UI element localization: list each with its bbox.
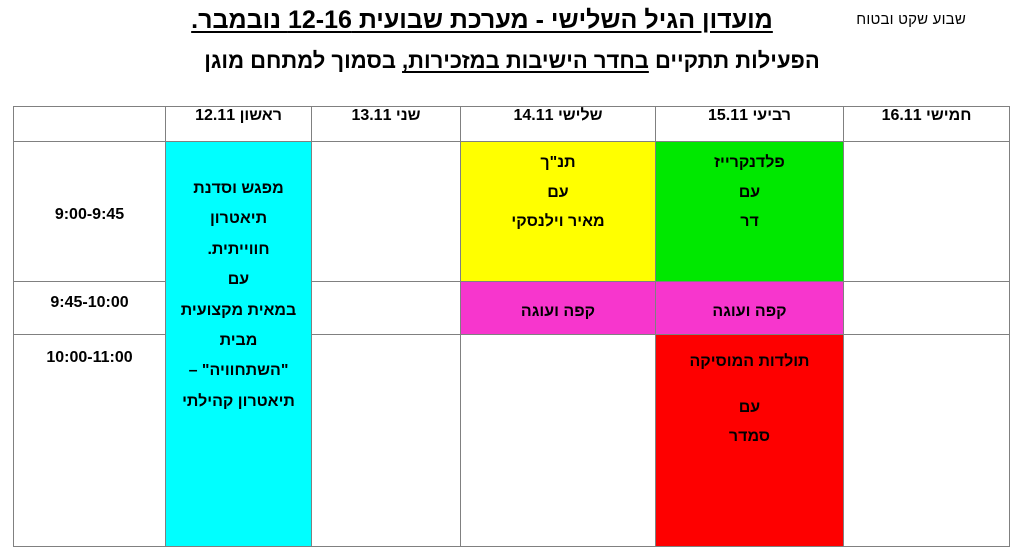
page-header: שבוע שקט ובטוח מועדון הגיל השלישי - מערכ… [0,0,1024,100]
cell-monday-slot2 [312,282,461,335]
activity-title-line3: חווייתית. [170,235,307,265]
cell-tuesday-slot3 [461,335,656,547]
activity-instructor: דר [660,207,839,237]
break-block: קפה ועוגה [656,282,843,333]
activity-with: עם [170,265,307,295]
cell-wednesday-feldenkrais: פלדנקרייז עם דר [656,142,844,282]
cell-tuesday-tanach: תנ"ך עם מאיר וילנסקי [461,142,656,282]
cell-thursday-slot2 [844,282,1010,335]
schedule-page: שבוע שקט ובטוח מועדון הגיל השלישי - מערכ… [0,0,1024,553]
column-header-monday: שני 13.11 [312,107,461,142]
cell-sunday-theater-workshop: מפגש וסדנת תיאטרון חווייתית. עם במאית מק… [166,142,312,547]
activity-org-name: "השתחוויה" – [170,356,307,386]
activity-instructor: סמדר [660,422,839,452]
column-header-wednesday: רביעי 15.11 [656,107,844,142]
activity-title-line1: מפגש וסדנת [170,148,307,204]
activity-title: תנ"ך [465,148,651,178]
cell-monday-slot1 [312,142,461,282]
cell-thursday-slot3 [844,335,1010,547]
table-row: פלדנקרייז עם דר תנ"ך עם מאיר וילנסקי [14,142,1010,282]
column-header-tuesday: שלישי 14.11 [461,107,656,142]
spacer [660,377,839,393]
column-header-thursday: חמישי 16.11 [844,107,1010,142]
activity-block: מפגש וסדנת תיאטרון חווייתית. עם במאית מק… [166,142,311,423]
subtitle-part-1: הפעילות תתקיים [649,48,820,73]
activity-with: עם [465,178,651,208]
cell-tuesday-coffee-break: קפה ועוגה [461,282,656,335]
activity-instructor: במאית מקצועית [170,296,307,326]
page-title: מועדון הגיל השלישי - מערכת שבועית 12-16 … [0,6,1024,35]
cell-time-slot2: 9:45-10:00 [14,282,166,335]
column-header-sunday: ראשון 12.11 [166,107,312,142]
subtitle-part-2: בסמוך למתחם מוגן [204,48,402,73]
time-label: 9:45-10:00 [14,282,165,312]
break-label: קפה ועוגה [465,297,651,327]
activity-block: פלדנקרייז עם דר [656,142,843,243]
table-row: תולדות המוסיקה עם סמדר 10:00-11:00 [14,335,1010,547]
activity-with: עם [660,393,839,423]
cell-monday-slot3 [312,335,461,547]
weekly-schedule-table: חמישי 16.11 רביעי 15.11 שלישי 14.11 שני … [13,106,1010,547]
cell-wednesday-music-history: תולדות המוסיקה עם סמדר [656,335,844,547]
table-row: חמישי 16.11 רביעי 15.11 שלישי 14.11 שני … [14,107,1010,142]
activity-org-type: תיאטרון קהילתי [170,387,307,417]
activity-title: פלדנקרייז [660,148,839,178]
activity-block: תנ"ך עם מאיר וילנסקי [461,142,655,243]
break-label: קפה ועוגה [660,297,839,327]
activity-title: תולדות המוסיקה [660,347,839,377]
time-label: 10:00-11:00 [14,335,165,367]
time-label: 9:00-9:45 [14,142,165,224]
subtitle-underlined-location: בחדר הישיבות במזכירות, [402,48,649,73]
break-block: קפה ועוגה [461,282,655,333]
activity-block: תולדות המוסיקה עם סמדר [656,335,843,458]
cell-time-slot3: 10:00-11:00 [14,335,166,547]
cell-wednesday-coffee-break: קפה ועוגה [656,282,844,335]
activity-org-from: מבית [170,326,307,356]
cell-thursday-slot1 [844,142,1010,282]
cell-time-slot1: 9:00-9:45 [14,142,166,282]
activity-title-line2: תיאטרון [170,204,307,234]
activity-with: עם [660,178,839,208]
page-subtitle: הפעילות תתקיים בחדר הישיבות במזכירות, בס… [0,48,1024,74]
table-header-row: חמישי 16.11 רביעי 15.11 שלישי 14.11 שני … [14,107,1010,142]
table-row: קפה ועוגה קפה ועוגה 9:45-10:00 [14,282,1010,335]
activity-instructor: מאיר וילנסקי [465,207,651,237]
table-body: פלדנקרייז עם דר תנ"ך עם מאיר וילנסקי [14,142,1010,547]
column-header-time [14,107,166,142]
